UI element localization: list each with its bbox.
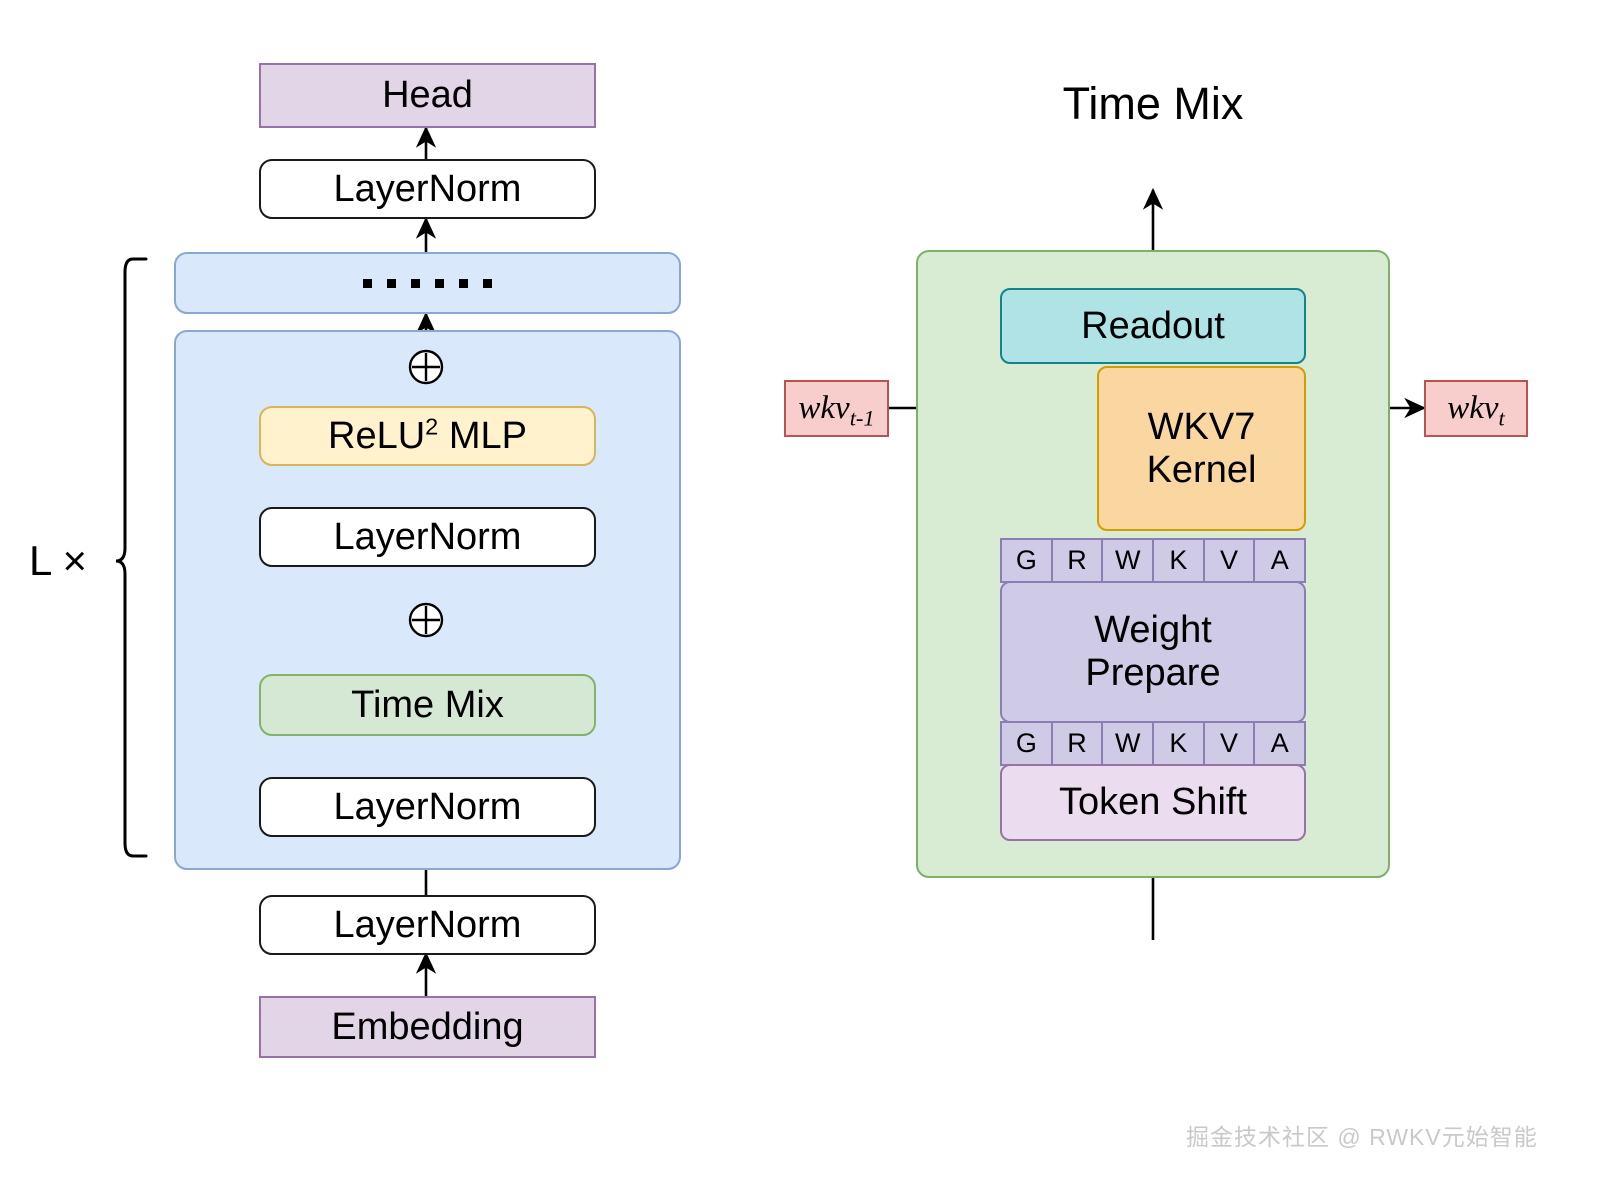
head-block[interactable]: Head	[259, 63, 596, 128]
relu2-mlp-label: ReLU2 MLP	[328, 415, 527, 458]
embedding-block[interactable]: Embedding	[259, 996, 596, 1058]
relu2-mlp-block[interactable]: ReLU2 MLP	[259, 406, 596, 466]
repeat-count-label: L ×	[10, 533, 106, 589]
ellipsis-dots	[363, 279, 492, 288]
wkv7-kernel-block[interactable]: WKV7 Kernel	[1097, 366, 1306, 531]
token-shift-label: Token Shift	[1059, 781, 1247, 824]
watermark-text: 掘金技术社区 @ RWKV元始智能	[1186, 1118, 1538, 1152]
head-label: Head	[382, 74, 473, 117]
diagram-canvas: Head LayerNorm ReLU2 MLP LayerNorm Time	[0, 0, 1601, 1201]
final-layernorm-label: LayerNorm	[334, 168, 522, 211]
readout-label: Readout	[1081, 305, 1225, 348]
gate-cell-k[interactable]: K	[1152, 538, 1205, 583]
shift-cell-v[interactable]: V	[1203, 721, 1256, 766]
wkv-state-in-label: wkvt-1	[798, 390, 874, 427]
weight-prepare-block[interactable]: Weight Prepare	[1000, 581, 1306, 723]
gate-cell-v[interactable]: V	[1203, 538, 1256, 583]
gate-cell-r[interactable]: R	[1051, 538, 1104, 583]
mlp-exponent: 2	[425, 413, 438, 439]
gate-cells-top: G R W K V A	[1000, 538, 1306, 583]
gate-cell-a[interactable]: A	[1253, 538, 1306, 583]
shift-cell-g[interactable]: G	[1000, 721, 1053, 766]
time-mix-block[interactable]: Time Mix	[259, 674, 596, 736]
wkv-state-out-label: wkvt	[1447, 390, 1505, 427]
timemix-layernorm-block[interactable]: LayerNorm	[259, 777, 596, 837]
time-mix-title: Time Mix	[953, 73, 1353, 135]
final-layernorm-block[interactable]: LayerNorm	[259, 159, 596, 219]
shift-cell-w[interactable]: W	[1101, 721, 1154, 766]
readout-block[interactable]: Readout	[1000, 288, 1306, 364]
time-mix-label: Time Mix	[351, 684, 504, 727]
gate-cells-bottom: G R W K V A	[1000, 721, 1306, 766]
input-layernorm-label: LayerNorm	[334, 904, 522, 947]
timemix-layernorm-label: LayerNorm	[334, 786, 522, 829]
token-shift-block[interactable]: Token Shift	[1000, 764, 1306, 841]
mlp-layernorm-label: LayerNorm	[334, 516, 522, 559]
embedding-label: Embedding	[331, 1006, 523, 1049]
shift-cell-a[interactable]: A	[1253, 721, 1306, 766]
ellipsis-block	[174, 252, 681, 314]
wkv-state-out-block[interactable]: wkvt	[1424, 380, 1528, 437]
shift-cell-k[interactable]: K	[1152, 721, 1205, 766]
mlp-residual-add	[408, 349, 444, 385]
repeat-brace	[116, 259, 146, 856]
input-layernorm-block[interactable]: LayerNorm	[259, 895, 596, 955]
gate-cell-w[interactable]: W	[1101, 538, 1154, 583]
wkv-state-out-subscript: t	[1499, 406, 1505, 431]
timemix-residual-add	[408, 602, 444, 638]
wkv7-kernel-label: WKV7 Kernel	[1147, 406, 1257, 491]
wkv-state-in-subscript: t-1	[850, 406, 875, 431]
shift-cell-r[interactable]: R	[1051, 721, 1104, 766]
mlp-layernorm-block[interactable]: LayerNorm	[259, 507, 596, 567]
gate-cell-g[interactable]: G	[1000, 538, 1053, 583]
weight-prepare-label: Weight Prepare	[1085, 609, 1220, 694]
wkv-state-in-block[interactable]: wkvt-1	[784, 380, 889, 437]
